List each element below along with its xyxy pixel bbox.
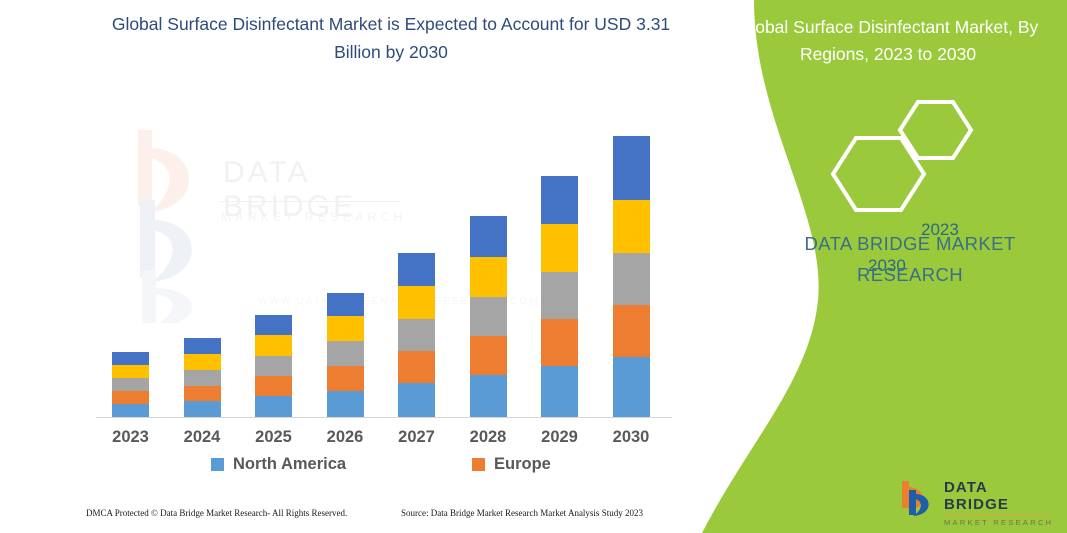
x-axis-label-2029: 2029 xyxy=(528,428,592,447)
bar-segment-south-america-2024 xyxy=(184,338,221,354)
bar-segment-middle-east-and-africa-2030 xyxy=(613,200,650,253)
x-axis-label-2030: 2030 xyxy=(599,428,663,447)
panel-brand-line2: RESEARCH xyxy=(760,259,1060,290)
bar-segment-south-america-2030 xyxy=(613,136,650,200)
bar-segment-north-america-2027 xyxy=(398,383,435,417)
hexagon-group: 2023 2030 xyxy=(818,98,998,213)
bar-segment-europe-2027 xyxy=(398,351,435,383)
footer: DMCA Protected © Data Bridge Market Rese… xyxy=(0,508,690,528)
legend-item-europe[interactable]: Europe xyxy=(472,455,551,474)
bar-segment-asia-pacific-2025 xyxy=(255,356,292,376)
x-axis-label-2024: 2024 xyxy=(170,428,234,447)
bar-segment-north-america-2030 xyxy=(613,357,650,417)
legend-item-north-america[interactable]: North America xyxy=(211,455,346,474)
bar-2025 xyxy=(255,315,292,417)
logo-divider xyxy=(944,515,1052,516)
bar-segment-europe-2030 xyxy=(613,305,650,357)
bar-2024 xyxy=(184,338,221,417)
bar-segment-south-america-2027 xyxy=(398,253,435,286)
x-axis-label-2028: 2028 xyxy=(456,428,520,447)
bar-segment-asia-pacific-2028 xyxy=(470,297,507,336)
bar-segment-middle-east-and-africa-2027 xyxy=(398,286,435,319)
bar-segment-south-america-2029 xyxy=(541,176,578,224)
stacked-bar-group xyxy=(96,120,686,417)
x-axis-label-2027: 2027 xyxy=(385,428,449,447)
legend-swatch-icon xyxy=(211,458,224,471)
panel-brand-text: DATA BRIDGE MARKET RESEARCH xyxy=(760,228,1060,290)
bar-segment-europe-2026 xyxy=(327,366,364,391)
data-bridge-logo-mark xyxy=(896,478,936,518)
logo-subtitle: MARKET RESEARCH xyxy=(944,518,1056,527)
bar-segment-asia-pacific-2027 xyxy=(398,319,435,351)
infographic-canvas: Global Surface Disinfectant Market, By R… xyxy=(0,0,1067,533)
chart-title: Global Surface Disinfectant Market is Ex… xyxy=(96,10,686,66)
bar-segment-north-america-2025 xyxy=(255,396,292,417)
bar-segment-middle-east-and-africa-2025 xyxy=(255,335,292,356)
bar-segment-middle-east-and-africa-2026 xyxy=(327,316,364,341)
chart-baseline xyxy=(96,417,672,418)
bar-segment-north-america-2028 xyxy=(470,375,507,417)
bar-segment-europe-2025 xyxy=(255,376,292,396)
bar-2026 xyxy=(327,293,364,417)
x-axis-labels: 20232024202520262027202820292030 xyxy=(96,428,672,452)
footer-dmca-text: DMCA Protected © Data Bridge Market Rese… xyxy=(86,508,347,518)
logo-title: DATA BRIDGE xyxy=(944,479,1056,513)
x-axis-label-2023: 2023 xyxy=(99,428,163,447)
bar-segment-south-america-2028 xyxy=(470,216,507,257)
panel-brand-line1: DATA BRIDGE MARKET xyxy=(760,228,1060,259)
bar-segment-south-america-2026 xyxy=(327,293,364,316)
bar-2029 xyxy=(541,176,578,417)
bar-segment-asia-pacific-2026 xyxy=(327,341,364,366)
legend-swatch-icon xyxy=(472,458,485,471)
data-bridge-logo-text: DATA BRIDGE MARKET RESEARCH xyxy=(944,479,1056,527)
bar-segment-europe-2029 xyxy=(541,319,578,366)
bar-2028 xyxy=(470,216,507,417)
bar-segment-asia-pacific-2023 xyxy=(112,378,149,391)
bar-2023 xyxy=(112,352,149,417)
legend-label: Europe xyxy=(494,455,551,474)
chart-legend: North AmericaEurope xyxy=(96,455,686,481)
bar-segment-south-america-2023 xyxy=(112,352,149,365)
bar-segment-middle-east-and-africa-2028 xyxy=(470,257,507,297)
bar-segment-europe-2028 xyxy=(470,336,507,375)
data-bridge-logo: DATA BRIDGE MARKET RESEARCH xyxy=(896,478,1056,522)
bar-segment-north-america-2026 xyxy=(327,391,364,417)
footer-source-text: Source: Data Bridge Market Research Mark… xyxy=(401,508,643,518)
bar-segment-middle-east-and-africa-2023 xyxy=(112,365,149,378)
bar-2030 xyxy=(613,136,650,417)
bar-segment-europe-2024 xyxy=(184,386,221,401)
bar-segment-asia-pacific-2029 xyxy=(541,272,578,319)
legend-label: North America xyxy=(233,455,346,474)
bar-segment-asia-pacific-2024 xyxy=(184,370,221,386)
bar-segment-middle-east-and-africa-2029 xyxy=(541,224,578,272)
bar-segment-middle-east-and-africa-2024 xyxy=(184,354,221,370)
bar-segment-europe-2023 xyxy=(112,391,149,404)
bar-segment-north-america-2029 xyxy=(541,366,578,417)
bar-segment-north-america-2023 xyxy=(112,404,149,417)
x-axis-label-2025: 2025 xyxy=(242,428,306,447)
bar-segment-north-america-2024 xyxy=(184,401,221,417)
bar-segment-south-america-2025 xyxy=(255,315,292,335)
panel-title: Global Surface Disinfectant Market, By R… xyxy=(718,14,1058,68)
x-axis-label-2026: 2026 xyxy=(313,428,377,447)
bar-2027 xyxy=(398,253,435,417)
bar-segment-asia-pacific-2030 xyxy=(613,253,650,305)
